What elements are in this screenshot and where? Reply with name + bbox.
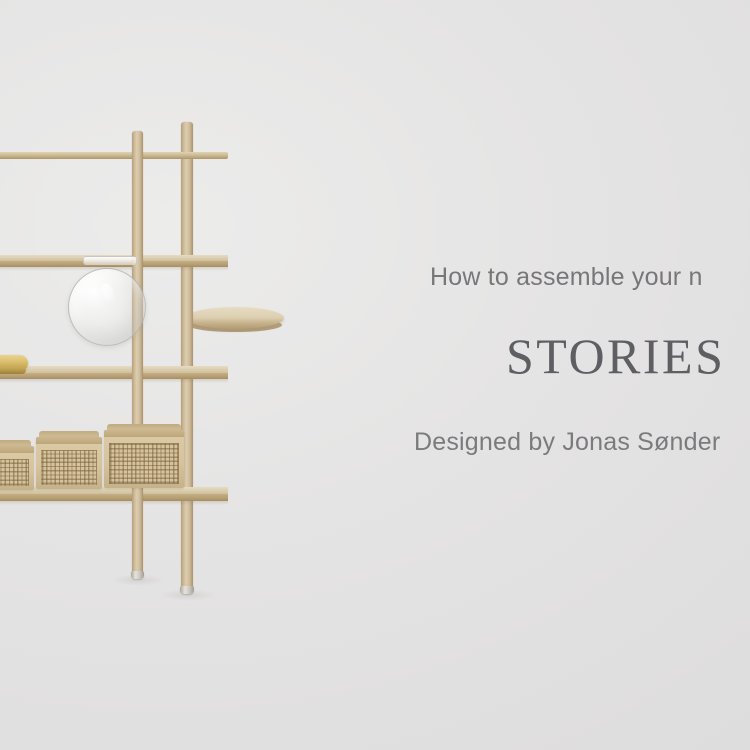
designer-credit-line: Designed by Jonas Sønder	[414, 427, 750, 457]
assembly-intro-line: How to assemble your n	[430, 262, 750, 292]
title-text-block: How to assemble your n STORIES Designed …	[430, 262, 750, 457]
product-title: STORIES	[506, 330, 750, 383]
title-card-frame: How to assemble your n STORIES Designed …	[0, 0, 750, 750]
